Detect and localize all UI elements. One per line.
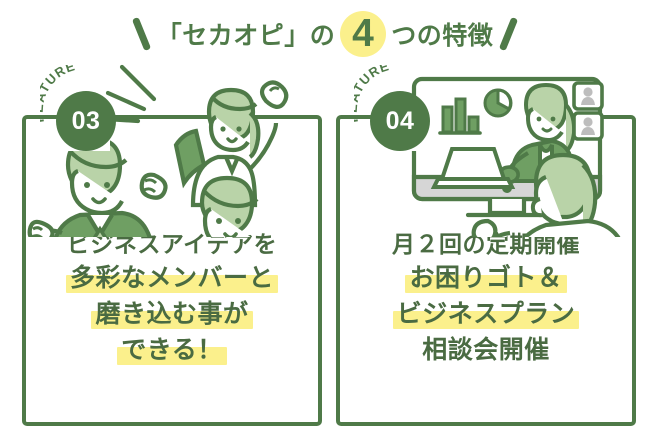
card-line: 磨き込む事が bbox=[91, 298, 252, 331]
headline-suffix: つの特徴 bbox=[391, 16, 493, 52]
card-line-text: 月２回の定期開催 bbox=[392, 231, 580, 257]
slash-left-icon bbox=[132, 17, 151, 51]
badge-number: 04 bbox=[386, 107, 415, 136]
feature-badge-04: FEATURE 04 bbox=[354, 65, 448, 151]
card-line: ビジネスプラン bbox=[393, 298, 580, 331]
card-line-text: お困りゴト＆ bbox=[409, 264, 562, 292]
slash-right-icon bbox=[499, 17, 518, 51]
card-line-text: 相談会開催 bbox=[422, 336, 550, 364]
infographic-canvas: 「セカオピ」の 4 つの特徴 bbox=[0, 0, 650, 434]
card-line: お困りゴト＆ bbox=[405, 262, 566, 295]
card-line-text: 磨き込む事が bbox=[95, 300, 248, 328]
badge-circle: 04 bbox=[370, 91, 430, 151]
feature-badge-03: FEATURE 03 bbox=[40, 65, 134, 151]
card-line: 月２回の定期開催 bbox=[388, 229, 584, 259]
card-text-block-03: ビジネスアイデアを 多彩なメンバーと 磨き込む事が できる！ bbox=[26, 229, 318, 367]
headline-prefix: 「セカオピ」の bbox=[157, 16, 336, 52]
badge-number: 03 bbox=[72, 107, 101, 136]
card-line-text: 多彩なメンバーと bbox=[70, 264, 274, 292]
badge-circle: 03 bbox=[56, 91, 116, 151]
card-line: 相談会開催 bbox=[418, 334, 554, 367]
card-line: できる！ bbox=[117, 334, 227, 367]
headline-number-badge: 4 bbox=[340, 11, 386, 57]
feature-card-04: FEATURE 04 月２回の定期開催 お困りゴト＆ ビジネスプラン 相談会開催 bbox=[336, 115, 636, 426]
card-line-text: ビジネスプラン bbox=[397, 300, 576, 328]
feature-card-03: FEATURE 03 ビジネスアイデアを 多彩なメンバーと 磨き込む事が で bbox=[22, 115, 322, 426]
card-line: ビジネスアイデアを bbox=[63, 229, 281, 259]
card-line: 多彩なメンバーと bbox=[66, 262, 278, 295]
card-line-text: できる！ bbox=[121, 336, 223, 364]
card-text-block-04: 月２回の定期開催 お困りゴト＆ ビジネスプラン 相談会開催 bbox=[340, 229, 632, 367]
headline-text: 「セカオピ」の 4 つの特徴 bbox=[157, 11, 494, 57]
headline-number: 4 bbox=[352, 14, 374, 53]
card-line-text: ビジネスアイデアを bbox=[67, 231, 277, 257]
page-title: 「セカオピ」の 4 つの特徴 bbox=[0, 6, 650, 62]
